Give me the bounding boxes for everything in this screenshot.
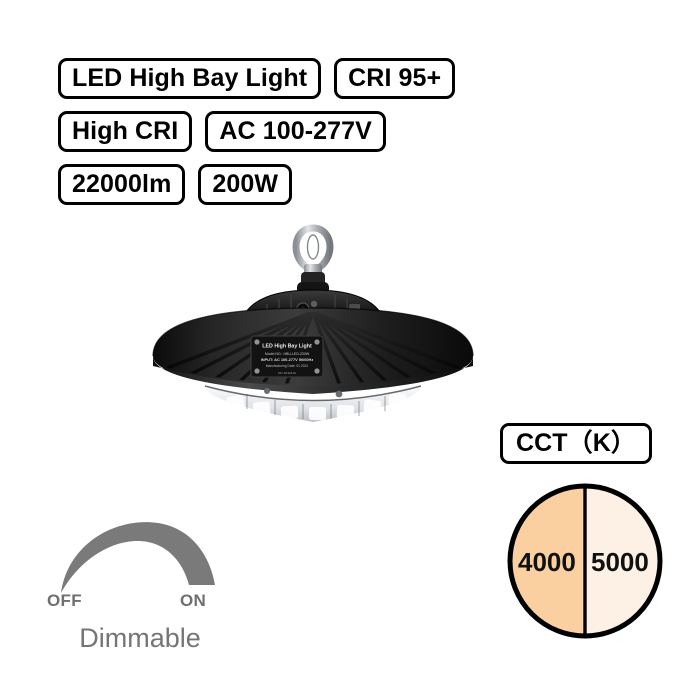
nameplate-title: LED High Bay Light (262, 344, 312, 350)
cct-title-badge: CCT（K） (500, 423, 652, 464)
hanging-hook-icon (296, 228, 330, 275)
badge-lumens: 22000lm (58, 164, 185, 205)
dimmer-off-label: OFF (47, 592, 82, 609)
badge-led-high-bay-light: LED High Bay Light (58, 58, 321, 99)
dimmable-caption: Dimmable (40, 625, 240, 652)
led-panel-screw (336, 391, 343, 398)
cct-warm-value: 4000 (518, 549, 576, 575)
feature-badge-row-1: LED High Bay Light CRI 95+ (58, 58, 455, 99)
dimmer-on-label: ON (180, 592, 206, 609)
nameplate-model: Model NO.: HBU-LED-200W (265, 352, 310, 356)
badge-voltage: AC 100-277V (205, 111, 386, 152)
nameplate-input: INPUT: AC 100-277V 50/60Hz (261, 357, 314, 362)
feature-badge-row-3: 22000lm 200W (58, 164, 292, 205)
cct-cool-value: 5000 (591, 549, 649, 575)
nameplate-date: Manufacturing Date: 01 2021 (266, 364, 309, 368)
nameplate-code: MC-D190130 (278, 371, 296, 375)
feature-badge-row-2: High CRI AC 100-277V (58, 111, 386, 152)
cct-color-wheel: 4000 5000 (505, 481, 665, 641)
cct-title-wrap: CCT（K） (500, 423, 652, 464)
dimmable-indicator: OFF ON Dimmable (40, 515, 240, 660)
product-image-high-bay-light: LED High Bay Light Model NO.: HBU-LED-20… (143, 216, 483, 431)
badge-cri-95-plus: CRI 95+ (334, 58, 455, 99)
badge-wattage: 200W (198, 164, 292, 205)
badge-high-cri: High CRI (58, 111, 192, 152)
product-nameplate: LED High Bay Light Model NO.: HBU-LED-20… (251, 336, 323, 377)
product-feature-graphic: LED High Bay Light CRI 95+ High CRI AC 1… (0, 0, 700, 700)
dimmer-arc-icon (58, 515, 218, 595)
